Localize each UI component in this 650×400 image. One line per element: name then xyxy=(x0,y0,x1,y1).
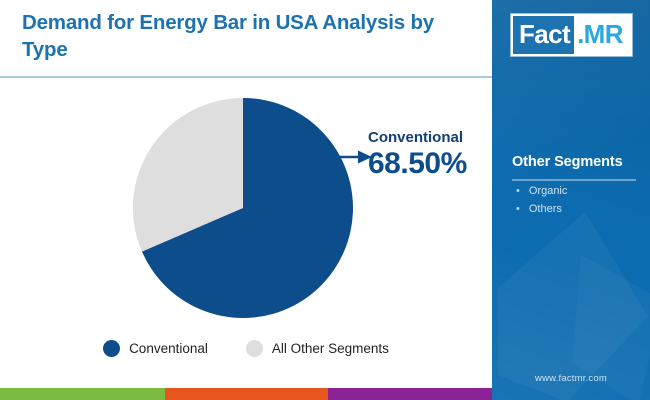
logo-text-fact: Fact xyxy=(513,16,574,54)
infographic-canvas: Demand for Energy Bar in USA Analysis by… xyxy=(0,0,650,400)
segment-label-organic: Organic xyxy=(529,184,568,200)
list-item: • Others xyxy=(516,202,567,218)
segment-label-others: Others xyxy=(529,202,562,218)
bullet-icon: • xyxy=(516,186,520,197)
other-segments-heading: Other Segments xyxy=(512,154,623,170)
footer-color-bar xyxy=(0,388,492,400)
legend-label-all-other-segments: All Other Segments xyxy=(272,341,389,356)
footer-bar-segment-orange xyxy=(165,388,328,400)
chart-content-area: Demand for Energy Bar in USA Analysis by… xyxy=(0,0,492,388)
website-url[interactable]: www.factmr.com xyxy=(492,373,650,384)
chart-callout: Conventional 68.50% xyxy=(368,130,488,180)
panel-facet-decoration xyxy=(498,212,648,400)
other-segments-divider xyxy=(512,179,636,181)
footer-bar-segment-green xyxy=(0,388,165,400)
list-item: • Organic xyxy=(516,184,567,200)
logo-text-mr: .MR xyxy=(574,16,630,54)
page-title: Demand for Energy Bar in USA Analysis by… xyxy=(22,9,462,63)
title-divider xyxy=(0,76,492,78)
other-segments-list: • Organic • Others xyxy=(516,184,567,220)
legend-swatch-conventional xyxy=(103,340,120,357)
pie-chart-svg xyxy=(133,98,353,318)
callout-label: Conventional xyxy=(368,130,488,147)
chart-legend: Conventional All Other Segments xyxy=(0,340,492,357)
callout-value: 68.50% xyxy=(368,147,488,181)
footer-bar-segment-purple xyxy=(328,388,492,400)
factmr-logo[interactable]: Fact .MR xyxy=(511,14,632,56)
legend-item-all-other-segments: All Other Segments xyxy=(246,340,389,357)
right-arrow-icon xyxy=(330,148,372,166)
legend-item-conventional: Conventional xyxy=(103,340,208,357)
pie-chart xyxy=(133,98,353,318)
bullet-icon: • xyxy=(516,204,520,215)
legend-label-conventional: Conventional xyxy=(129,341,208,356)
legend-swatch-all-other-segments xyxy=(246,340,263,357)
